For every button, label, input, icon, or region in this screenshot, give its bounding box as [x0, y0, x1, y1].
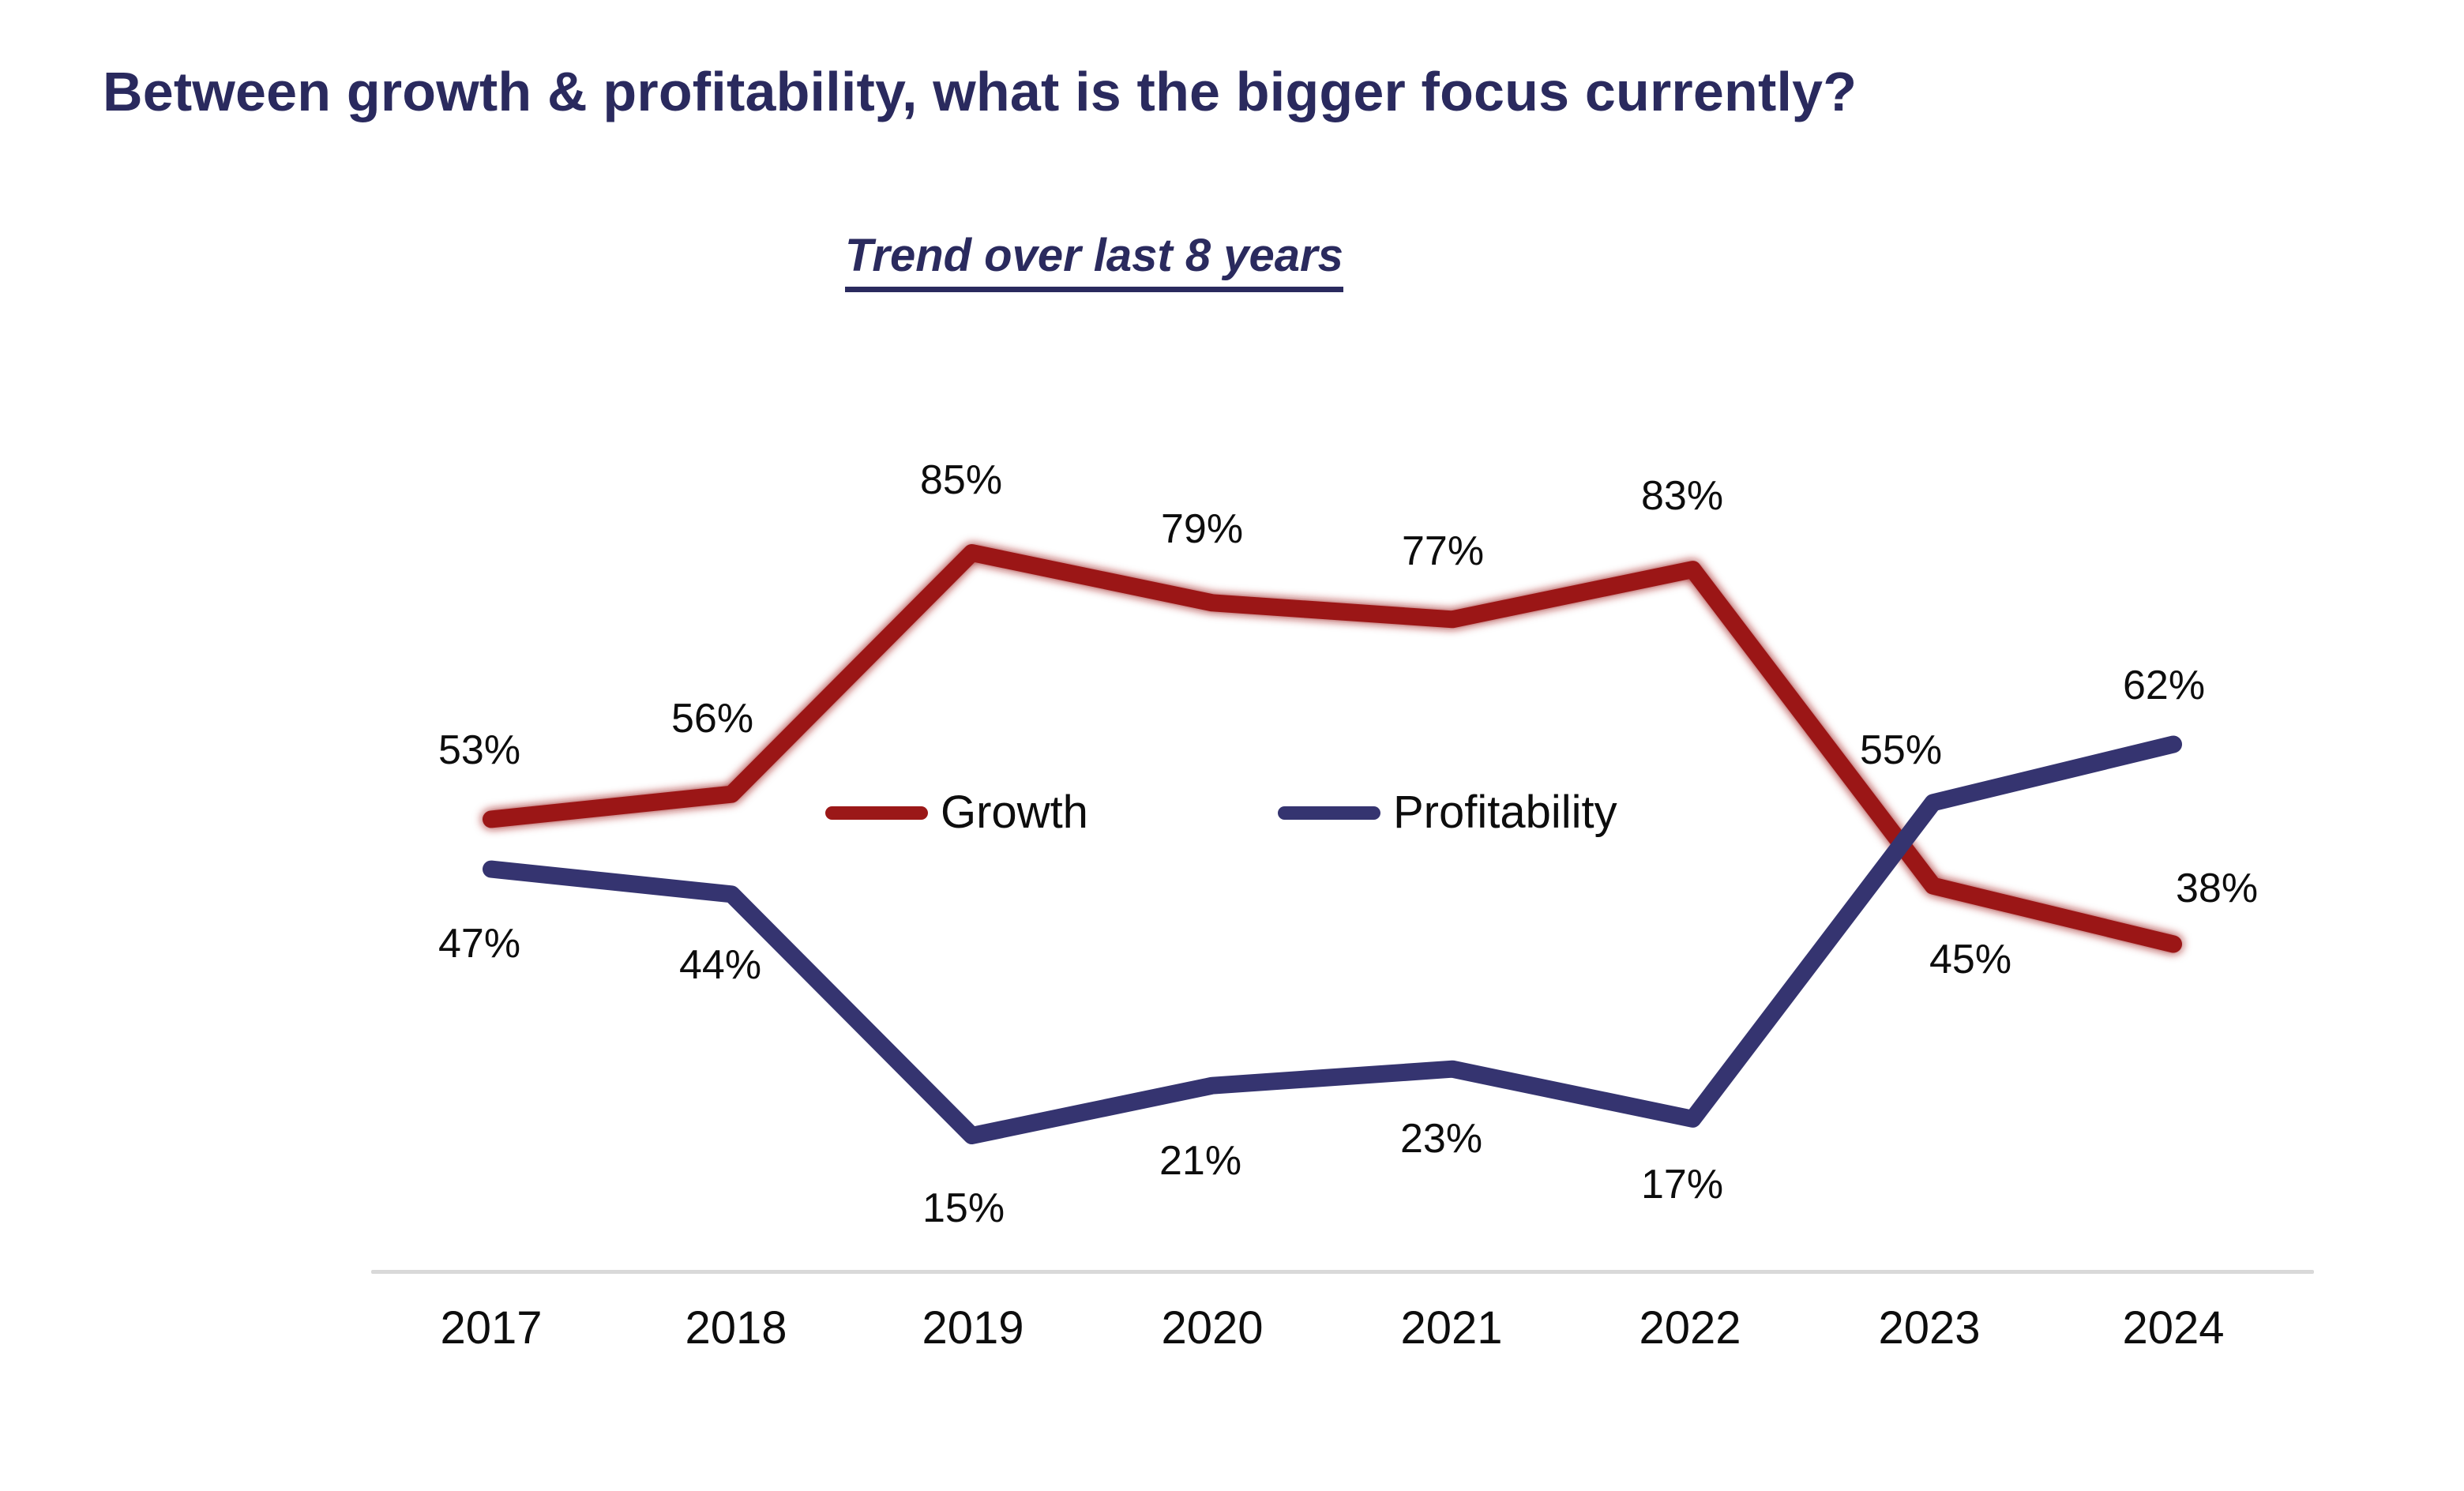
- chart-legend: Growth Profitability: [825, 790, 1617, 836]
- line-chart-plot: [0, 0, 2464, 1491]
- profitability-color-swatch-icon: [1278, 806, 1380, 820]
- profitability-label-2020: 21%: [1159, 1137, 1241, 1185]
- x-axis-tick-2017: 2017: [373, 1301, 610, 1354]
- growth-color-swatch-icon: [825, 806, 928, 820]
- growth-label-2022: 83%: [1641, 472, 1723, 520]
- slide-canvas: Between growth & profitability, what is …: [0, 0, 2464, 1491]
- chart-subtitle: Trend over last 8 years: [845, 229, 1343, 292]
- x-axis-ticks: 2017 2018 2019 2020 2021 2022 2023 2024: [371, 1301, 2314, 1373]
- growth-label-2023: 45%: [1929, 936, 2011, 983]
- x-axis-tick-2019: 2019: [855, 1301, 1091, 1354]
- profitability-label-2022: 17%: [1641, 1161, 1723, 1208]
- profitability-label-2024: 62%: [2123, 662, 2205, 709]
- growth-label-2020: 79%: [1161, 505, 1243, 553]
- x-axis-tick-2018: 2018: [618, 1301, 855, 1354]
- x-axis-tick-2021: 2021: [1333, 1301, 1570, 1354]
- subtitle-container: Trend over last 8 years: [845, 229, 1343, 292]
- legend-label-growth: Growth: [941, 790, 1088, 836]
- x-axis-line: [371, 1270, 2314, 1274]
- legend-label-profitability: Profitability: [1393, 790, 1617, 836]
- x-axis-tick-2022: 2022: [1572, 1301, 1809, 1354]
- profitability-label-2019: 15%: [922, 1185, 1005, 1232]
- growth-label-2018: 56%: [671, 695, 753, 742]
- profitability-label-2017: 47%: [438, 920, 520, 967]
- profitability-label-2021: 23%: [1400, 1115, 1482, 1162]
- page-title: Between growth & profitability, what is …: [103, 62, 2377, 122]
- growth-label-2019: 85%: [920, 456, 1002, 504]
- x-axis-tick-2024: 2024: [2055, 1301, 2292, 1354]
- growth-label-2021: 77%: [1402, 528, 1484, 575]
- legend-item-profitability[interactable]: Profitability: [1278, 790, 1617, 836]
- profitability-label-2018: 44%: [679, 941, 761, 989]
- x-axis-tick-2020: 2020: [1094, 1301, 1331, 1354]
- legend-item-growth[interactable]: Growth: [825, 790, 1088, 836]
- profitability-label-2023: 55%: [1860, 727, 1942, 774]
- x-axis-tick-2023: 2023: [1811, 1301, 2048, 1354]
- growth-label-2017: 53%: [438, 727, 520, 774]
- growth-label-2024: 38%: [2176, 865, 2258, 912]
